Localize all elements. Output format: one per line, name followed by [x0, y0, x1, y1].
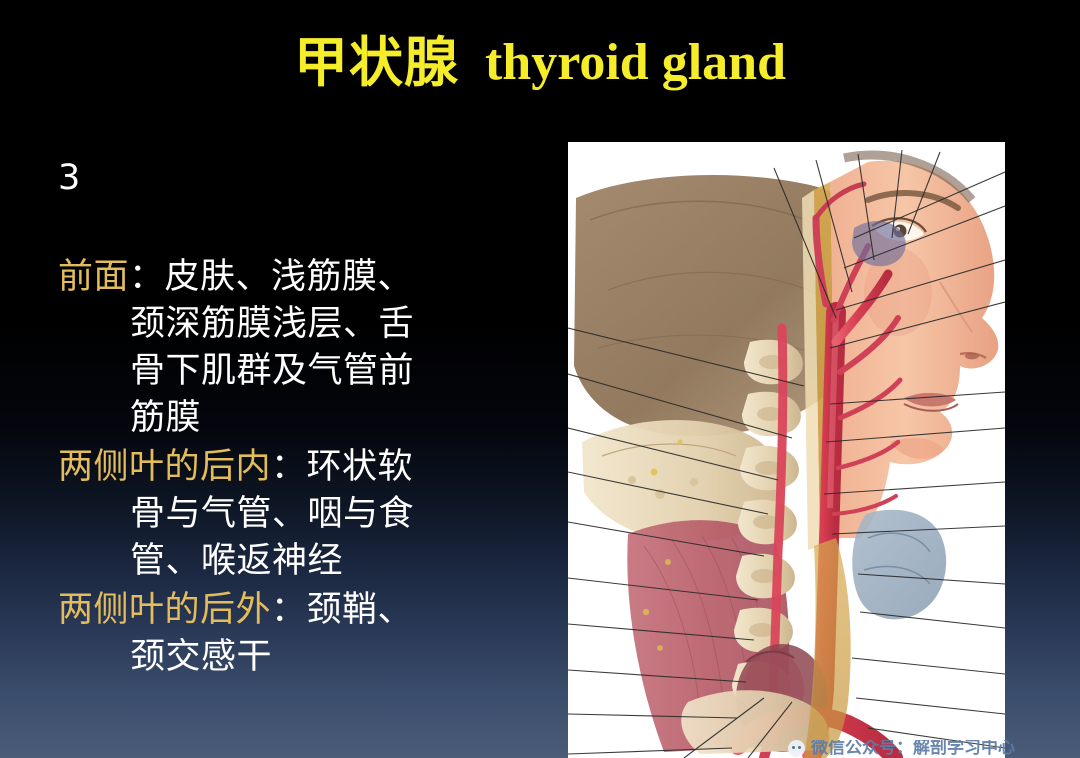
section-heading: 3	[58, 155, 538, 202]
content-section-posteromedial: 两侧叶的后内：环状软 骨与气管、咽与食 管、喉返神经	[58, 444, 538, 585]
title-chinese: 甲状腺	[294, 31, 459, 94]
watermark-text: 微信公众号：解剖学习中心	[811, 740, 1015, 757]
anatomy-illustration-panel	[568, 142, 1005, 758]
section-text: 颈鞘、	[307, 590, 414, 630]
title-english: thyroid gland	[485, 34, 786, 91]
body-text-column: 3 前面：皮肤、浅筋膜、 颈深筋膜浅层、舌 骨下肌群及气管前 筋膜 两侧叶的后内…	[58, 155, 538, 683]
section-colon: ：	[129, 257, 165, 297]
content-line: 前面：皮肤、浅筋膜、	[58, 254, 538, 301]
content-line: 骨下肌群及气管前	[58, 348, 538, 395]
content-line: 颈深筋膜浅层、舌	[58, 301, 538, 348]
section-text: 环状软	[307, 447, 414, 487]
content-line: 颈交感干	[58, 634, 538, 681]
section-label: 两侧叶的后内	[58, 447, 271, 487]
wechat-icon	[788, 740, 805, 757]
neck-anatomy-figure	[568, 142, 1005, 758]
content-line: 两侧叶的后内：环状软	[58, 444, 538, 491]
section-label: 两侧叶的后外	[58, 590, 271, 630]
watermark: 微信公众号：解剖学习中心	[788, 740, 1080, 758]
page-title: 甲状腺thyroid gland	[0, 36, 1080, 90]
section-text: 皮肤、浅筋膜、	[165, 257, 414, 297]
content-line: 骨与气管、咽与食	[58, 491, 538, 538]
section-label: 前面	[58, 257, 129, 297]
slide-canvas: 甲状腺thyroid gland 3 前面：皮肤、浅筋膜、 颈深筋膜浅层、舌 骨…	[0, 0, 1080, 758]
content-line: 管、喉返神经	[58, 538, 538, 585]
content-line: 筋膜	[58, 395, 538, 442]
section-colon: ：	[271, 447, 307, 487]
section-colon: ：	[271, 590, 307, 630]
content-section-front: 前面：皮肤、浅筋膜、 颈深筋膜浅层、舌 骨下肌群及气管前 筋膜	[58, 254, 538, 442]
content-line: 两侧叶的后外：颈鞘、	[58, 587, 538, 634]
content-section-posterolateral: 两侧叶的后外：颈鞘、 颈交感干	[58, 587, 538, 681]
